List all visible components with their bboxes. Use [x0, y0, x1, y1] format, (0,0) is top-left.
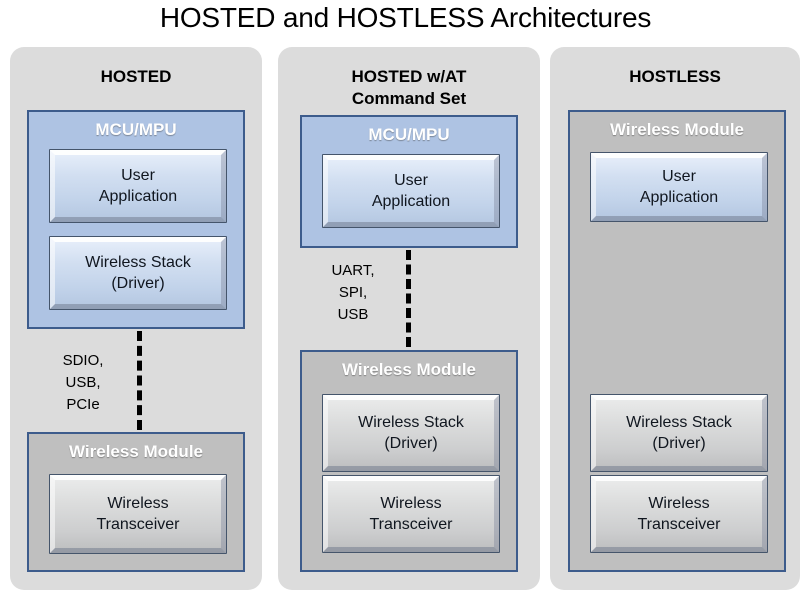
- page-title: HOSTED and HOSTLESS Architectures: [0, 2, 811, 34]
- item-user-application[interactable]: UserApplication: [49, 149, 227, 223]
- item-label: WirelessTransceiver: [634, 493, 725, 535]
- block-wireless-module-hostless[interactable]: Wireless Module UserApplication Wireless…: [568, 110, 786, 572]
- block-mcu-mpu-hosted-at[interactable]: MCU/MPU UserApplication: [300, 115, 518, 248]
- item-label: UserApplication: [95, 165, 181, 207]
- block-title-mcu-mpu: MCU/MPU: [302, 125, 516, 145]
- connector-label-hosted-at: UART,SPI,USB: [310, 260, 396, 326]
- block-title-mcu-mpu: MCU/MPU: [29, 120, 243, 140]
- item-wireless-transceiver[interactable]: WirelessTransceiver: [49, 474, 227, 554]
- connector-dashed-line-hosted: [137, 331, 142, 430]
- column-hostless: HOSTLESS Wireless Module UserApplication…: [550, 47, 800, 590]
- item-label: WirelessTransceiver: [93, 493, 184, 535]
- block-title-wireless-module: Wireless Module: [302, 360, 516, 380]
- block-title-wireless-module: Wireless Module: [570, 120, 784, 140]
- item-label: Wireless Stack(Driver): [81, 252, 195, 294]
- column-heading-hosted: HOSTED: [10, 66, 262, 88]
- item-label: WirelessTransceiver: [366, 493, 457, 535]
- item-user-application[interactable]: UserApplication: [322, 154, 500, 228]
- item-wireless-stack-driver[interactable]: Wireless Stack(Driver): [49, 236, 227, 310]
- block-wireless-module-hosted-at[interactable]: Wireless Module Wireless Stack(Driver) W…: [300, 350, 518, 572]
- column-heading-hosted-at: HOSTED w/ATCommand Set: [278, 66, 540, 110]
- item-label: UserApplication: [636, 166, 722, 208]
- item-label: UserApplication: [368, 170, 454, 212]
- block-title-wireless-module: Wireless Module: [29, 442, 243, 462]
- item-wireless-transceiver[interactable]: WirelessTransceiver: [590, 475, 768, 553]
- item-user-application[interactable]: UserApplication: [590, 152, 768, 222]
- item-wireless-stack-driver[interactable]: Wireless Stack(Driver): [590, 394, 768, 472]
- item-wireless-transceiver[interactable]: WirelessTransceiver: [322, 475, 500, 553]
- column-heading-hostless: HOSTLESS: [550, 66, 800, 88]
- connector-dashed-line-hosted-at: [406, 250, 411, 347]
- column-hosted-at: HOSTED w/ATCommand Set MCU/MPU UserAppli…: [278, 47, 540, 590]
- item-label: Wireless Stack(Driver): [354, 412, 468, 454]
- item-wireless-stack-driver[interactable]: Wireless Stack(Driver): [322, 394, 500, 472]
- connector-label-hosted: SDIO,USB,PCIe: [40, 350, 126, 416]
- item-label: Wireless Stack(Driver): [622, 412, 736, 454]
- column-hosted: HOSTED MCU/MPU UserApplication Wireless …: [10, 47, 262, 590]
- block-mcu-mpu-hosted[interactable]: MCU/MPU UserApplication Wireless Stack(D…: [27, 110, 245, 329]
- block-wireless-module-hosted[interactable]: Wireless Module WirelessTransceiver: [27, 432, 245, 572]
